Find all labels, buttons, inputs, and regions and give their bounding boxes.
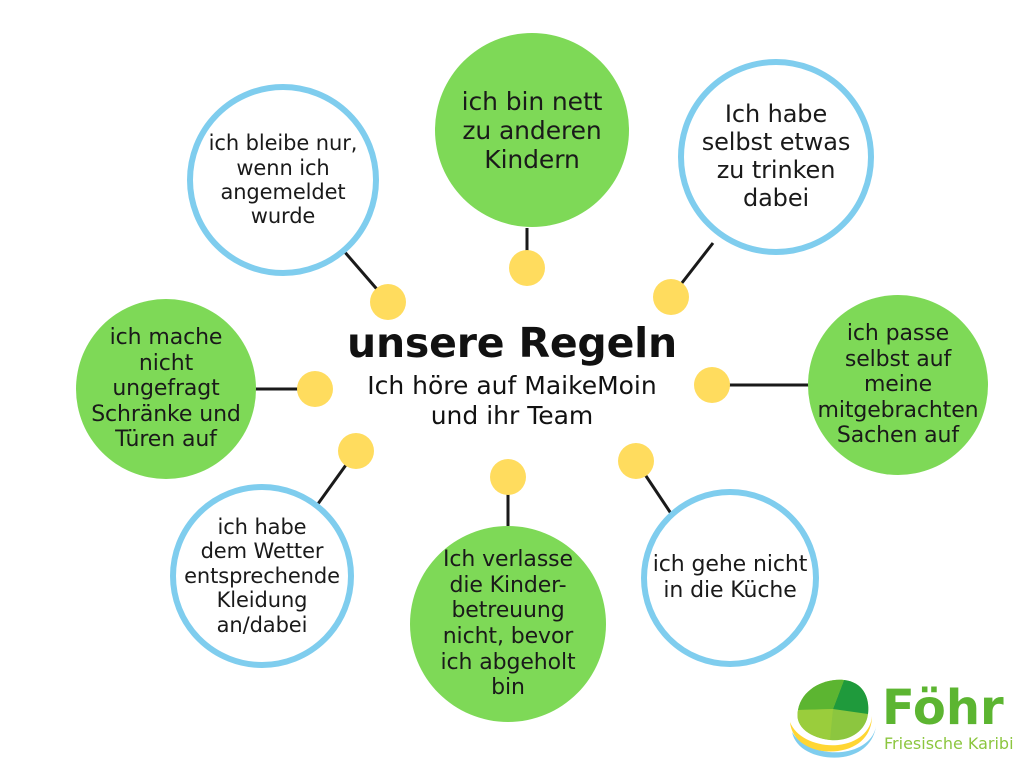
page-title: unsere Regeln [292, 322, 732, 365]
bubble-ich-verlasse-die-kinderbetreuung[interactable]: Ich verlasse die Kinder- betreuung nicht… [410, 526, 606, 722]
center-block: unsere Regeln Ich höre auf MaikeMoin und… [292, 322, 732, 430]
bubble-ich-habe-selbst-etwas-zu-trinken[interactable]: Ich habe selbst etwas zu trinken dabei [678, 59, 874, 255]
bubble-ich-habe-dem-wetter-entsprechende-kleidung[interactable]: ich habe dem Wetter entsprechende Kleidu… [170, 484, 354, 668]
connector-ich-bleibe-nur [343, 250, 388, 302]
mindmap-canvas: ich bleibe nur, wenn ich angemeldet wurd… [0, 0, 1024, 768]
connector-ich-habe-getraenk [671, 243, 713, 297]
logo-quadrant-light [797, 709, 833, 740]
bubble-label: ich bin nett zu anderen Kindern [435, 87, 629, 174]
connector-ich-bin-nett-dot[interactable] [509, 250, 545, 286]
connector-ich-verlasse-dot[interactable] [490, 459, 526, 495]
connector-ich-habe-getraenk-dot[interactable] [653, 279, 689, 315]
bubble-label: Ich habe selbst etwas zu trinken dabei [684, 101, 868, 212]
bubble-ich-bleibe-nur[interactable]: ich bleibe nur, wenn ich angemeldet wurd… [187, 84, 379, 276]
page-subtitle: Ich höre auf MaikeMoin und ihr Team [292, 371, 732, 430]
bubble-ich-bin-nett[interactable]: ich bin nett zu anderen Kindern [435, 33, 629, 227]
logo-tagline: Friesische Karibik. [884, 734, 1014, 753]
bubble-ich-gehe-nicht-in-die-kueche[interactable]: ich gehe nicht in die Küche [641, 489, 819, 667]
bubble-label: ich mache nicht ungefragt Schränke und T… [76, 325, 256, 453]
bubble-label: ich habe dem Wetter entsprechende Kleidu… [176, 515, 348, 637]
connector-ich-gehe-nicht-kueche-dot[interactable] [618, 443, 654, 479]
connector-ich-habe-kleidung [315, 451, 356, 508]
bubble-label: Ich verlasse die Kinder- betreuung nicht… [410, 547, 606, 700]
connector-ich-habe-kleidung-dot[interactable] [338, 433, 374, 469]
bubble-label: ich gehe nicht in die Küche [647, 552, 813, 603]
bubble-ich-mache-nicht-ungefragt-schraenke[interactable]: ich mache nicht ungefragt Schränke und T… [76, 299, 256, 479]
bubble-label: ich passe selbst auf meine mitgebrachten… [808, 321, 988, 449]
bubble-label: ich bleibe nur, wenn ich angemeldet wurd… [193, 131, 373, 228]
bubble-ich-passe-selbst-auf-meine-sachen[interactable]: ich passe selbst auf meine mitgebrachten… [808, 295, 988, 475]
logo-wordmark: Föhr [882, 680, 1004, 736]
connector-ich-bleibe-nur-dot[interactable] [370, 284, 406, 320]
foehr-logo: Föhr Friesische Karibik. [786, 676, 1014, 760]
